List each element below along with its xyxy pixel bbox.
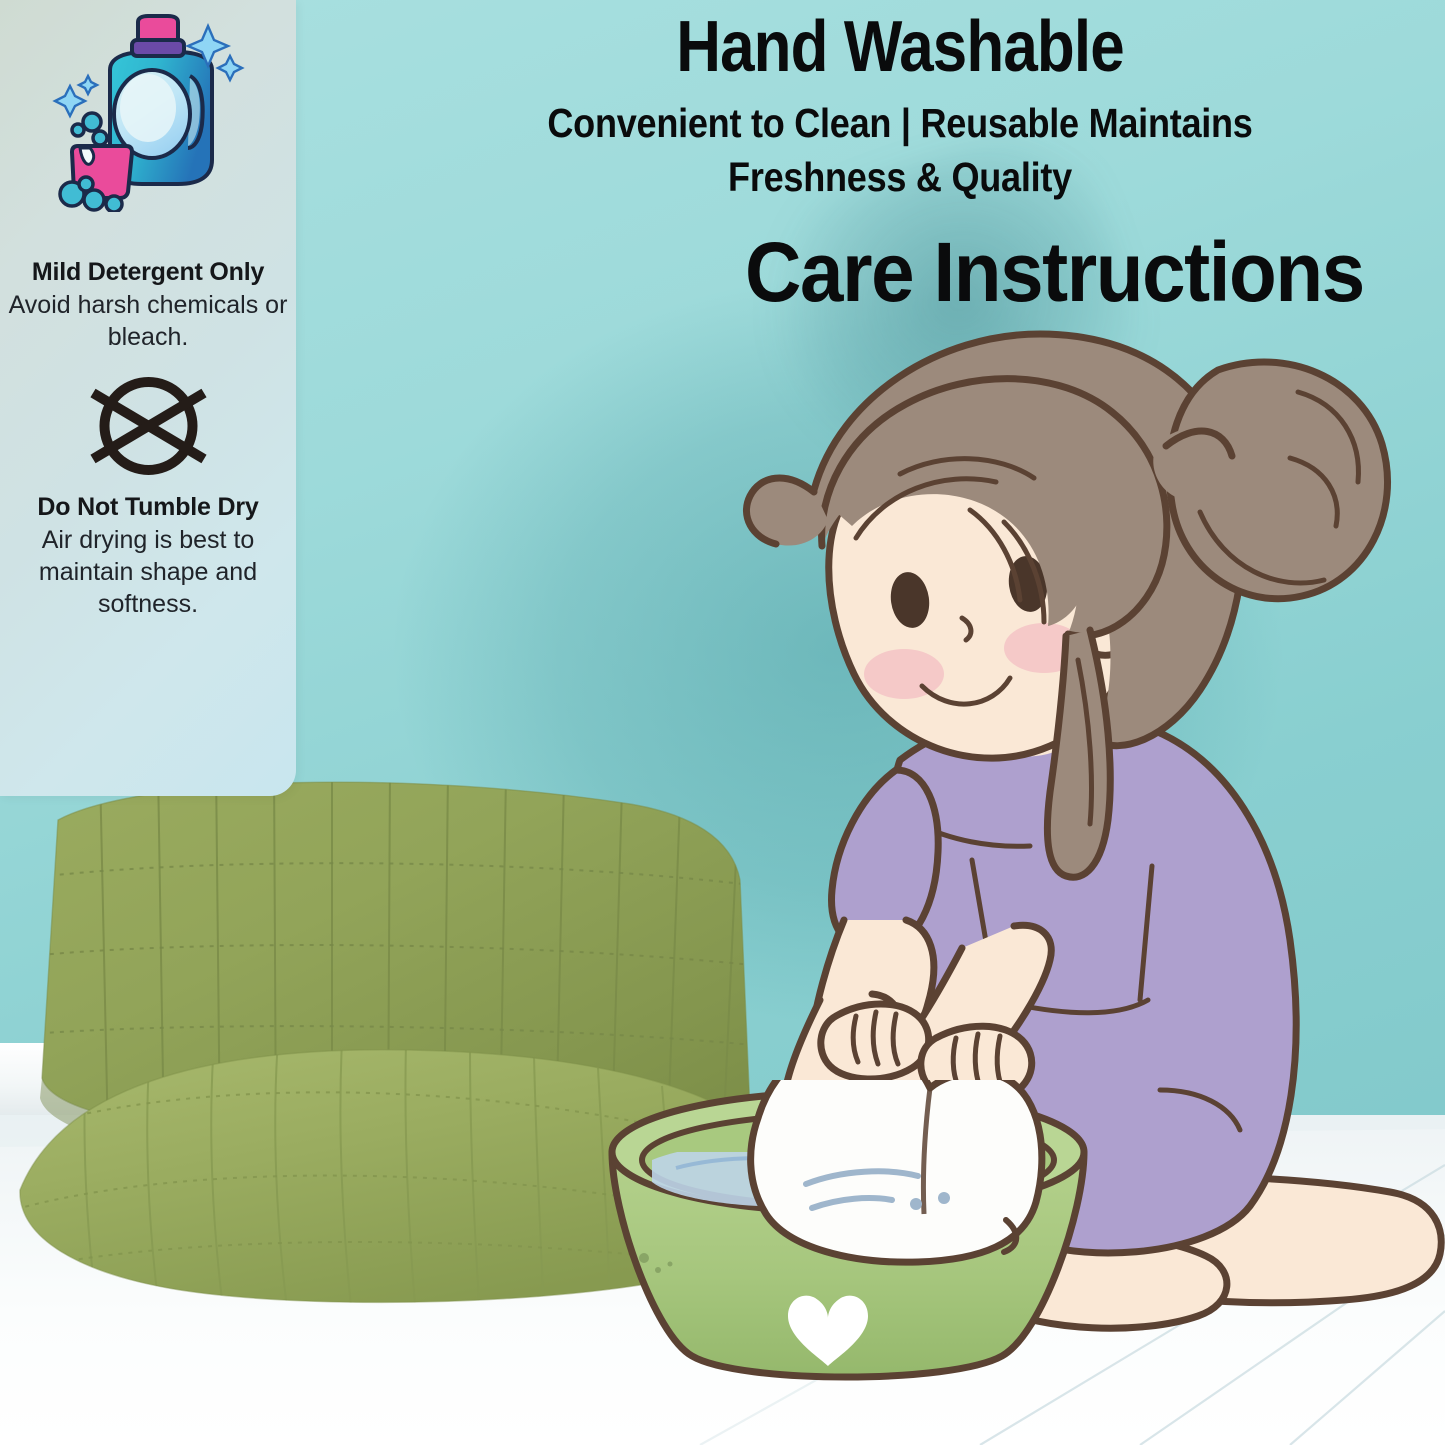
- white-garment: [751, 1080, 1042, 1262]
- section-title: Care Instructions: [745, 224, 1415, 321]
- care-item-nodry-title: Do Not Tumble Dry: [6, 493, 290, 522]
- page-title: Hand Washable: [504, 6, 1295, 88]
- detergent-bottle-icon: [48, 12, 248, 212]
- care-item-nodry: Do Not Tumble Dry Air drying is best to …: [0, 493, 296, 620]
- care-item-detergent-description: Avoid harsh chemicals or bleach.: [6, 289, 290, 353]
- wash-basin-group: [600, 1080, 1100, 1390]
- page-subtitle: Convenient to Clean | Reusable Maintains…: [495, 96, 1305, 204]
- no-tumble-dry-icon: [81, 367, 216, 485]
- care-instructions-infographic: .ol{stroke:#5b4233;stroke-width:7;stroke…: [0, 0, 1445, 1445]
- care-item-nodry-description: Air drying is best to maintain shape and…: [6, 524, 290, 620]
- care-item-detergent-title: Mild Detergent Only: [6, 258, 290, 287]
- care-item-detergent: Mild Detergent Only Avoid harsh chemical…: [0, 258, 296, 353]
- care-info-panel: Mild Detergent Only Avoid harsh chemical…: [0, 0, 296, 796]
